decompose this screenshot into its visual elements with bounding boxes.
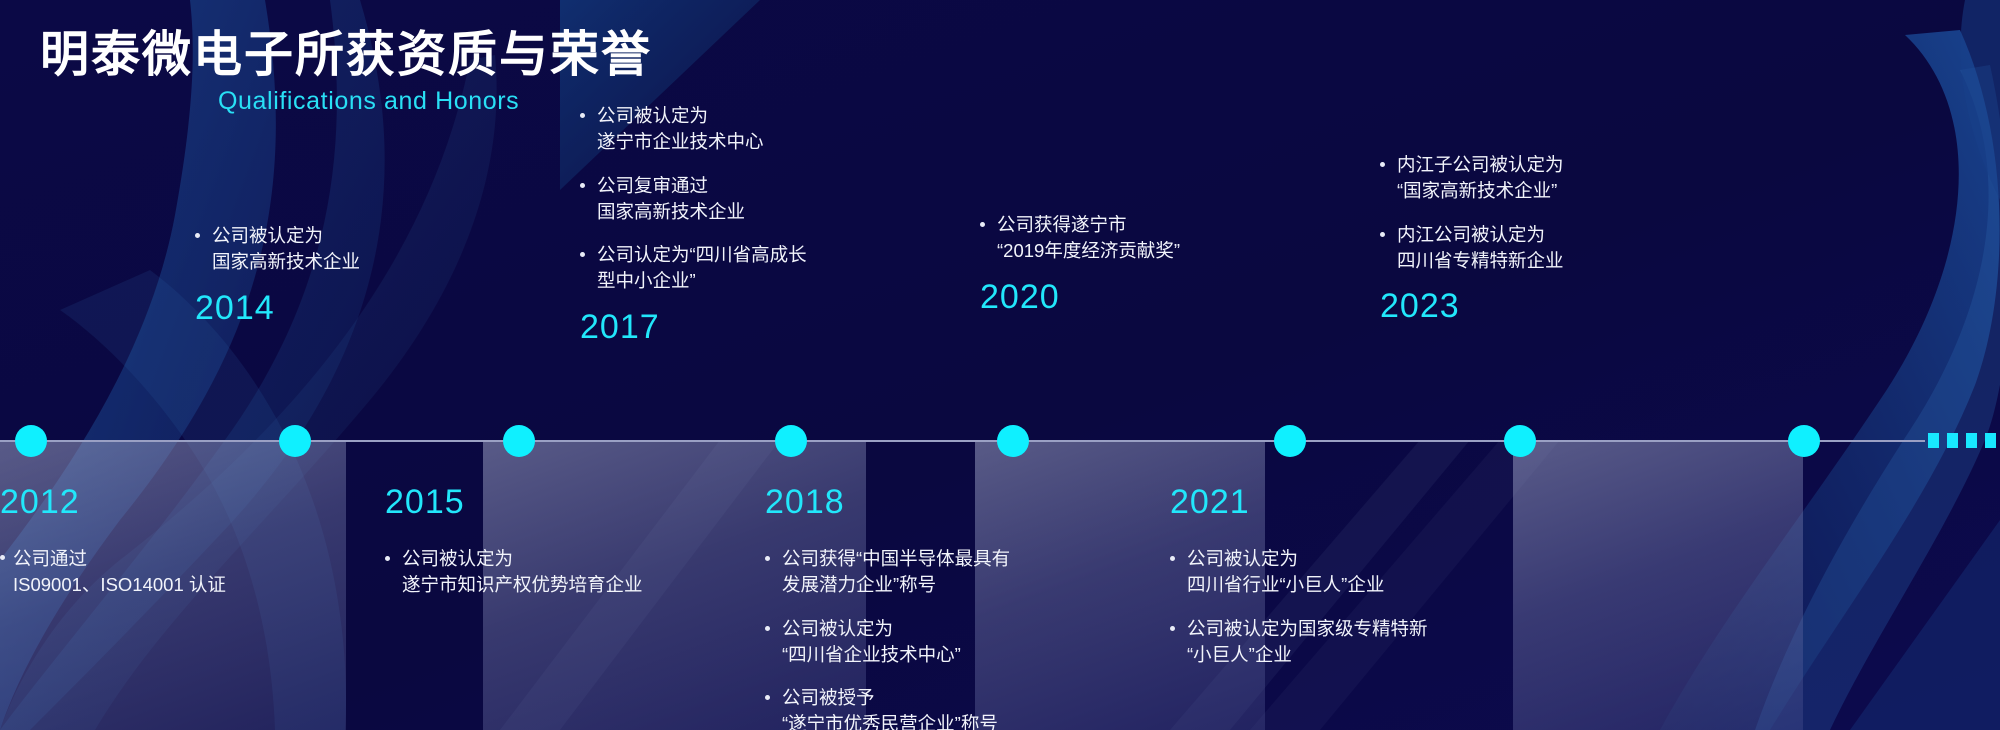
timeline-entry-2017[interactable]: 公司被认定为 遂宁市企业技术中心 公司复审通过 国家高新技术企业 公司认定为“四… (580, 103, 880, 344)
bullet-item: 公司被授予 “遂宁市优秀民营企业”称号 (765, 685, 1015, 730)
entry-bullets: 内江子公司被认定为 “国家高新技术企业” 内江公司被认定为 四川省专精特新企业 (1380, 152, 1680, 274)
timeline-node-2015[interactable] (503, 425, 535, 457)
entry-bullets: 公司通过 IS09001、ISO14001 认证 (0, 546, 330, 599)
timeline-axis-dashes (1928, 433, 2000, 448)
timeline-node-2018[interactable] (997, 425, 1029, 457)
entry-year: 2015 (385, 485, 670, 519)
axis-dash (1985, 433, 1996, 448)
entry-year: 2020 (980, 280, 1280, 314)
entry-year: 2021 (1170, 485, 1460, 519)
bullet-item: 公司认定为“四川省高成长 型中小企业” (580, 242, 880, 295)
entry-year: 2012 (0, 485, 330, 519)
timeline-entry-2023[interactable]: 内江子公司被认定为 “国家高新技术企业” 内江公司被认定为 四川省专精特新企业 … (1380, 152, 1680, 323)
timeline-entry-2015[interactable]: 2015 公司被认定为 遂宁市知识产权优势培育企业 (385, 485, 670, 599)
timeline-infographic: 明泰微电子所获资质与荣誉 Qualifications and Honors 2… (0, 0, 2000, 730)
bullet-item: 公司获得“中国半导体最具有 发展潜力企业”称号 (765, 546, 1015, 599)
bullet-item: 公司复审通过 国家高新技术企业 (580, 173, 880, 226)
entry-year: 2023 (1380, 289, 1680, 323)
entry-bullets: 公司被认定为 四川省行业“小巨人”企业 公司被认定为国家级专精特新 “小巨人”企… (1170, 546, 1460, 668)
timeline-node-2012[interactable] (15, 425, 47, 457)
timeline-entry-2020[interactable]: 公司获得遂宁市 “2019年度经济贡献奖” 2020 (980, 212, 1280, 314)
entry-bullets: 公司被认定为 遂宁市企业技术中心 公司复审通过 国家高新技术企业 公司认定为“四… (580, 103, 880, 295)
bullet-item: 公司被认定为 遂宁市知识产权优势培育企业 (385, 546, 670, 599)
bullet-item: 公司被认定为 “四川省企业技术中心” (765, 616, 1015, 669)
timeline-node-2023[interactable] (1788, 425, 1820, 457)
axis-dash (1947, 433, 1958, 448)
entry-bullets: 公司获得遂宁市 “2019年度经济贡献奖” (980, 212, 1280, 265)
page-title: 明泰微电子所获资质与荣誉 (40, 28, 652, 83)
entry-bullets: 公司获得“中国半导体最具有 发展潜力企业”称号 公司被认定为 “四川省企业技术中… (765, 546, 1015, 730)
bullet-item: 公司被认定为国家级专精特新 “小巨人”企业 (1170, 616, 1460, 669)
timeline-entry-2012[interactable]: 2012 公司通过 IS09001、ISO14001 认证 (0, 485, 330, 599)
bullet-item: 内江子公司被认定为 “国家高新技术企业” (1380, 152, 1680, 205)
timeline-entry-2021[interactable]: 2021 公司被认定为 四川省行业“小巨人”企业 公司被认定为国家级专精特新 “… (1170, 485, 1460, 668)
entry-bullets: 公司被认定为 国家高新技术企业 (195, 223, 495, 276)
timeline-node-2014[interactable] (279, 425, 311, 457)
axis-dash (1928, 433, 1939, 448)
entry-year: 2017 (580, 310, 880, 344)
bullet-item: 公司被认定为 国家高新技术企业 (195, 223, 495, 276)
entry-year: 2018 (765, 485, 1015, 519)
timeline-node-2017[interactable] (775, 425, 807, 457)
bullet-item: 公司被认定为 四川省行业“小巨人”企业 (1170, 546, 1460, 599)
timeline-entry-2018[interactable]: 2018 公司获得“中国半导体最具有 发展潜力企业”称号 公司被认定为 “四川省… (765, 485, 1015, 730)
axis-dash (1966, 433, 1977, 448)
bullet-item: 公司获得遂宁市 “2019年度经济贡献奖” (980, 212, 1280, 265)
bullet-item: 内江公司被认定为 四川省专精特新企业 (1380, 222, 1680, 275)
page-header: 明泰微电子所获资质与荣誉 Qualifications and Honors (40, 28, 652, 116)
entry-year: 2014 (195, 291, 495, 325)
page-subtitle: Qualifications and Honors (218, 87, 652, 116)
bullet-item: 公司通过 IS09001、ISO14001 认证 (0, 546, 330, 599)
timeline-node-2021[interactable] (1504, 425, 1536, 457)
panel-2021 (1513, 442, 1803, 730)
entry-bullets: 公司被认定为 遂宁市知识产权优势培育企业 (385, 546, 670, 599)
timeline-entry-2014[interactable]: 公司被认定为 国家高新技术企业 2014 (195, 223, 495, 325)
timeline-node-2020[interactable] (1274, 425, 1306, 457)
